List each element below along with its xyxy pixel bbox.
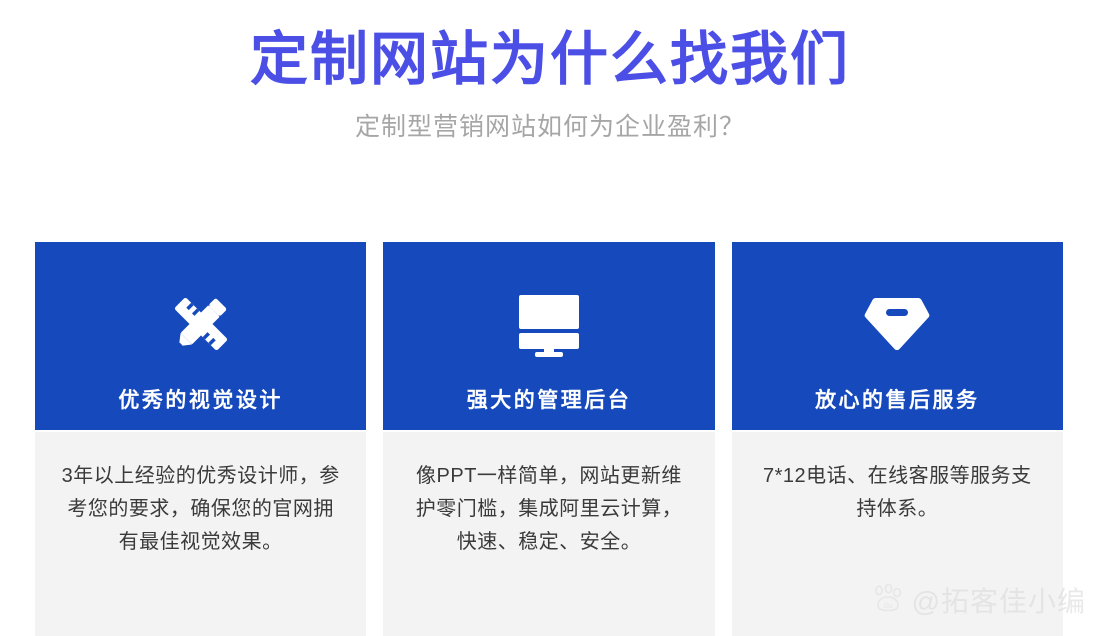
page-root: 定制网站为什么找我们 定制型营销网站如何为企业盈利？ — [0, 0, 1100, 636]
feature-card[interactable]: 强大的管理后台 像PPT一样简单，网站更新维护零门槛，集成阿里云计算，快速、稳定… — [383, 242, 714, 636]
feature-card-text: 像PPT一样简单，网站更新维护零门槛，集成阿里云计算，快速、稳定、安全。 — [409, 460, 688, 559]
feature-card-body: 像PPT一样简单，网站更新维护零门槛，集成阿里云计算，快速、稳定、安全。 — [383, 432, 714, 636]
feature-card-body: 3年以上经验的优秀设计师，参考您的要求，确保您的官网拥有最佳视觉效果。 — [35, 432, 366, 636]
feature-card-text: 3年以上经验的优秀设计师，参考您的要求，确保您的官网拥有最佳视觉效果。 — [61, 460, 340, 559]
feature-card-header: 强大的管理后台 — [383, 242, 714, 430]
desktop-monitor-icon — [513, 276, 585, 372]
feature-card-title: 强大的管理后台 — [467, 384, 632, 414]
diamond-gem-icon — [862, 276, 932, 372]
page-title: 定制网站为什么找我们 — [0, 0, 1100, 93]
page-subtitle: 定制型营销网站如何为企业盈利？ — [0, 93, 1100, 144]
feature-card[interactable]: 放心的售后服务 7*12电话、在线客服等服务支持体系。 — [732, 242, 1063, 636]
feature-card-text: 7*12电话、在线客服等服务支持体系。 — [758, 460, 1037, 526]
feature-card-title: 优秀的视觉设计 — [118, 384, 283, 414]
feature-card-header: 优秀的视觉设计 — [35, 242, 366, 430]
feature-card-header: 放心的售后服务 — [732, 242, 1063, 430]
page-header: 定制网站为什么找我们 定制型营销网站如何为企业盈利？ — [0, 0, 1100, 143]
feature-card[interactable]: 优秀的视觉设计 3年以上经验的优秀设计师，参考您的要求，确保您的官网拥有最佳视觉… — [35, 242, 366, 636]
feature-card-list: 优秀的视觉设计 3年以上经验的优秀设计师，参考您的要求，确保您的官网拥有最佳视觉… — [35, 242, 1063, 636]
feature-card-title: 放心的售后服务 — [815, 384, 980, 414]
feature-card-body: 7*12电话、在线客服等服务支持体系。 — [732, 432, 1063, 636]
pencil-ruler-icon — [164, 276, 238, 372]
